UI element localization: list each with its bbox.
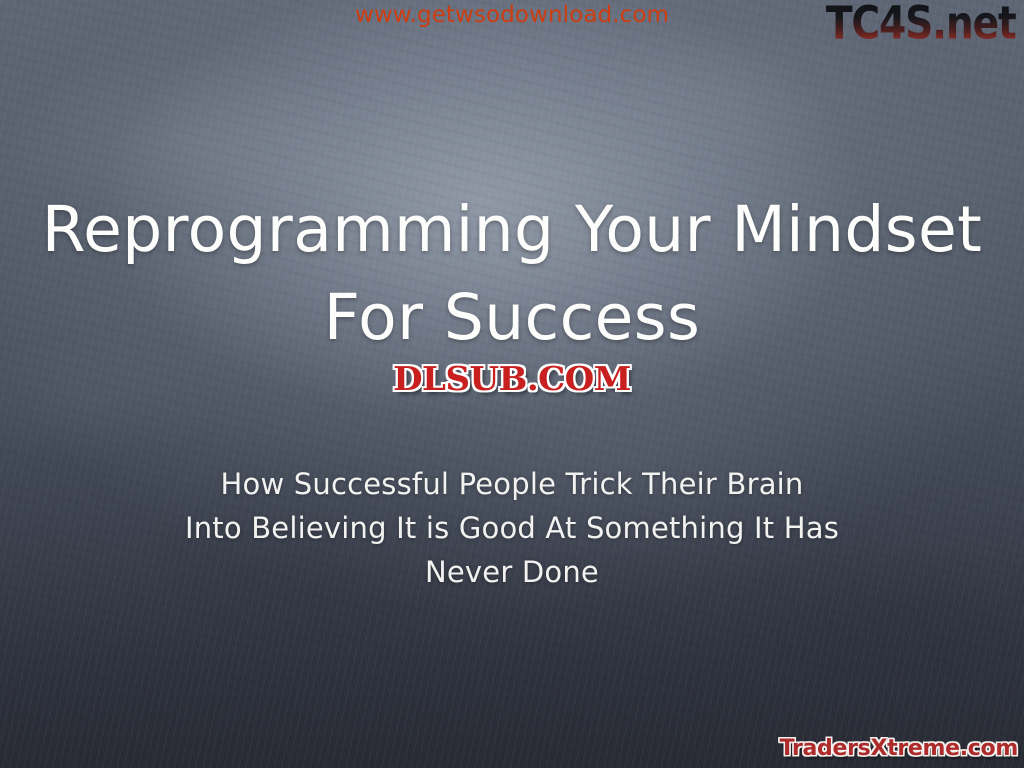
tc4s-brand-logo: TC4S.net	[826, 1, 1016, 47]
page-subtitle-line-1: How Successful People Trick Their Brain	[0, 462, 1024, 506]
tradersxtreme-footer-logo: TradersXtreme.com	[780, 736, 1018, 762]
page-title: Reprogramming Your Mindset For Success	[0, 186, 1024, 362]
page-subtitle-line-2: Into Believing It is Good At Something I…	[0, 506, 1024, 550]
page-subtitle-line-3: Never Done	[0, 550, 1024, 594]
page-title-line-2: For Success	[0, 274, 1024, 362]
presentation-slide: www.getwsodownload.com TC4S.net Reprogra…	[0, 0, 1024, 768]
dlsub-watermark: DLSUB.COM	[0, 360, 1024, 398]
page-title-line-1: Reprogramming Your Mindset	[42, 193, 982, 266]
page-subtitle: How Successful People Trick Their Brain …	[0, 462, 1024, 594]
